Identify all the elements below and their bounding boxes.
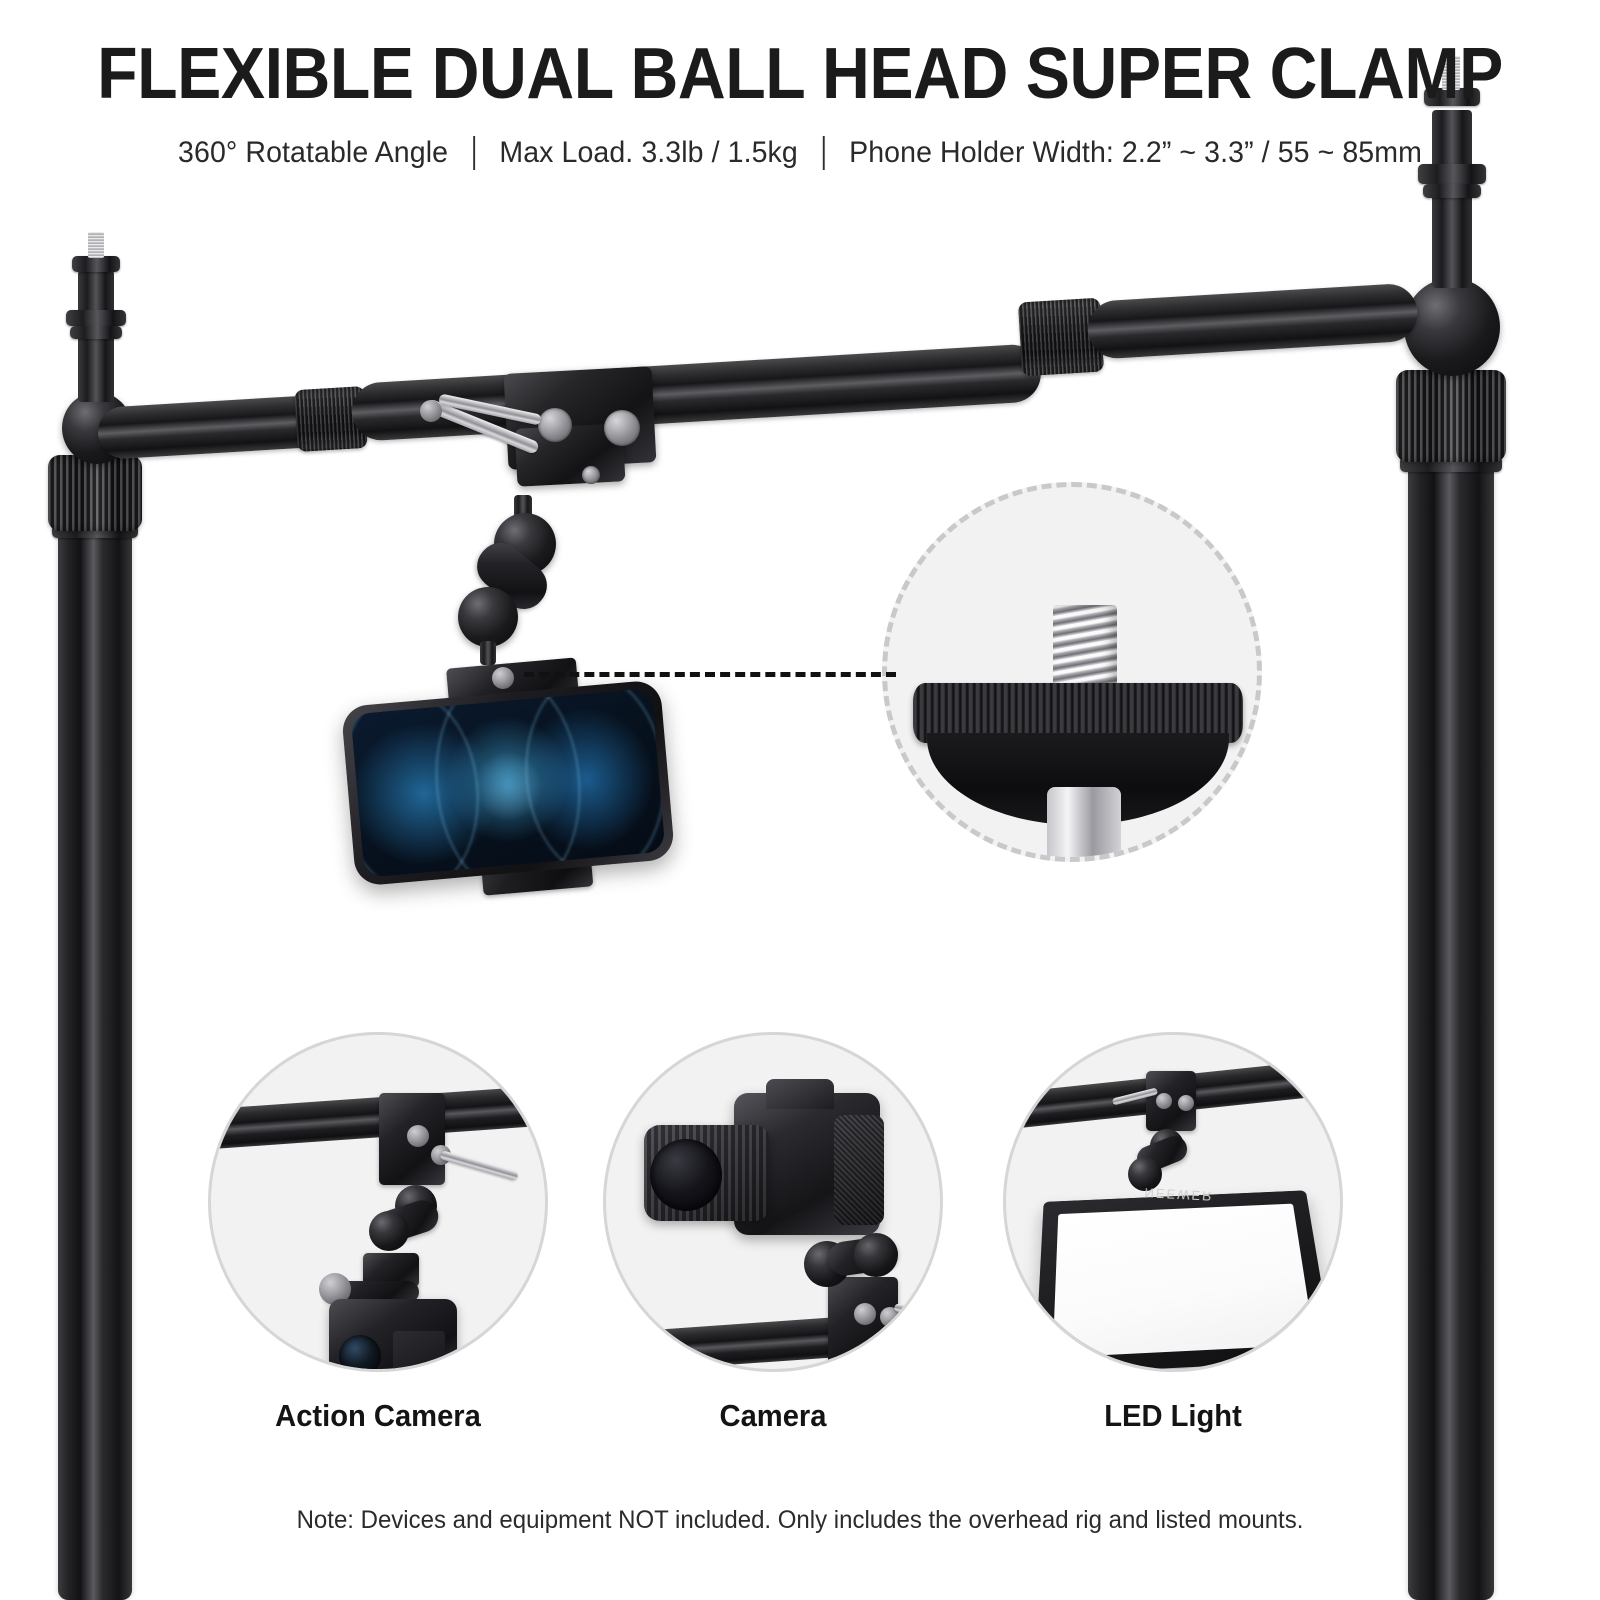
smartphone xyxy=(341,679,675,886)
led-clamp-disc-2 xyxy=(1178,1095,1194,1111)
detail-leader-line xyxy=(524,672,896,677)
quarter-inch-thread-stud xyxy=(1053,605,1117,691)
left-stand-spigot-cap xyxy=(72,256,120,272)
action-camera-lens xyxy=(339,1335,381,1372)
clamp-bolt-small xyxy=(582,466,600,484)
cam-clamp-disc-1 xyxy=(854,1303,876,1325)
feature-label-action-camera: Action Camera xyxy=(218,1398,538,1434)
dslr-lens-glass xyxy=(650,1139,722,1211)
feature-label-led-light: LED Light xyxy=(1013,1398,1333,1434)
right-stand-spigot-flange-lower xyxy=(1418,164,1486,184)
main-super-clamp[interactable] xyxy=(430,370,670,510)
phone-holder-lock-screw-icon[interactable] xyxy=(492,667,514,689)
feature-label-camera: Camera xyxy=(613,1398,933,1434)
clamp-lever-knob-icon xyxy=(420,400,442,422)
ball-head-lower-ball[interactable] xyxy=(458,587,518,647)
ac-clamp-lever xyxy=(439,1150,518,1181)
right-stand-spigot xyxy=(1432,110,1472,288)
right-stand-screw-thread-icon xyxy=(1442,56,1460,90)
action-camera-screen xyxy=(393,1331,445,1372)
feature-circle-camera xyxy=(603,1032,943,1372)
feature-circle-action-camera xyxy=(208,1032,548,1372)
ac-lower-ball xyxy=(369,1211,409,1251)
left-stand-screw-thread-icon xyxy=(88,232,104,258)
overhead-crossbar xyxy=(90,280,1450,460)
right-stand-spigot-cap xyxy=(1424,88,1480,106)
thumbscrew-lower-shaft xyxy=(1047,787,1121,862)
crossbar-right-segment xyxy=(1086,282,1419,359)
led-panel-diffuser xyxy=(1053,1204,1315,1358)
left-stand-pole xyxy=(58,520,132,1600)
footnote: Note: Devices and equipment NOT included… xyxy=(32,1506,1568,1535)
clamp-pivot-disc-right xyxy=(604,410,640,446)
phone-screen xyxy=(350,688,665,878)
clamp-pivot-disc-left xyxy=(538,408,572,442)
dslr-prism-hump xyxy=(766,1079,834,1109)
right-stand-spigot-flange-upper xyxy=(1423,184,1481,198)
ac-clamp-disc-1 xyxy=(407,1125,429,1147)
screw-detail-circle xyxy=(882,482,1262,862)
right-stand-pole xyxy=(1408,452,1494,1600)
dslr-grip xyxy=(834,1115,884,1225)
ac-mounting-bar xyxy=(208,1083,548,1151)
product-illustration: Action Camera Camera NEEWER LED Light xyxy=(0,0,1600,1600)
led-clamp-disc-1 xyxy=(1156,1093,1172,1109)
feature-circle-led-light: NEEWER xyxy=(1003,1032,1343,1372)
phone-holder-assembly[interactable] xyxy=(330,655,710,915)
cam-upper-ball xyxy=(854,1233,898,1277)
left-stand-lock-knob[interactable] xyxy=(48,455,142,531)
